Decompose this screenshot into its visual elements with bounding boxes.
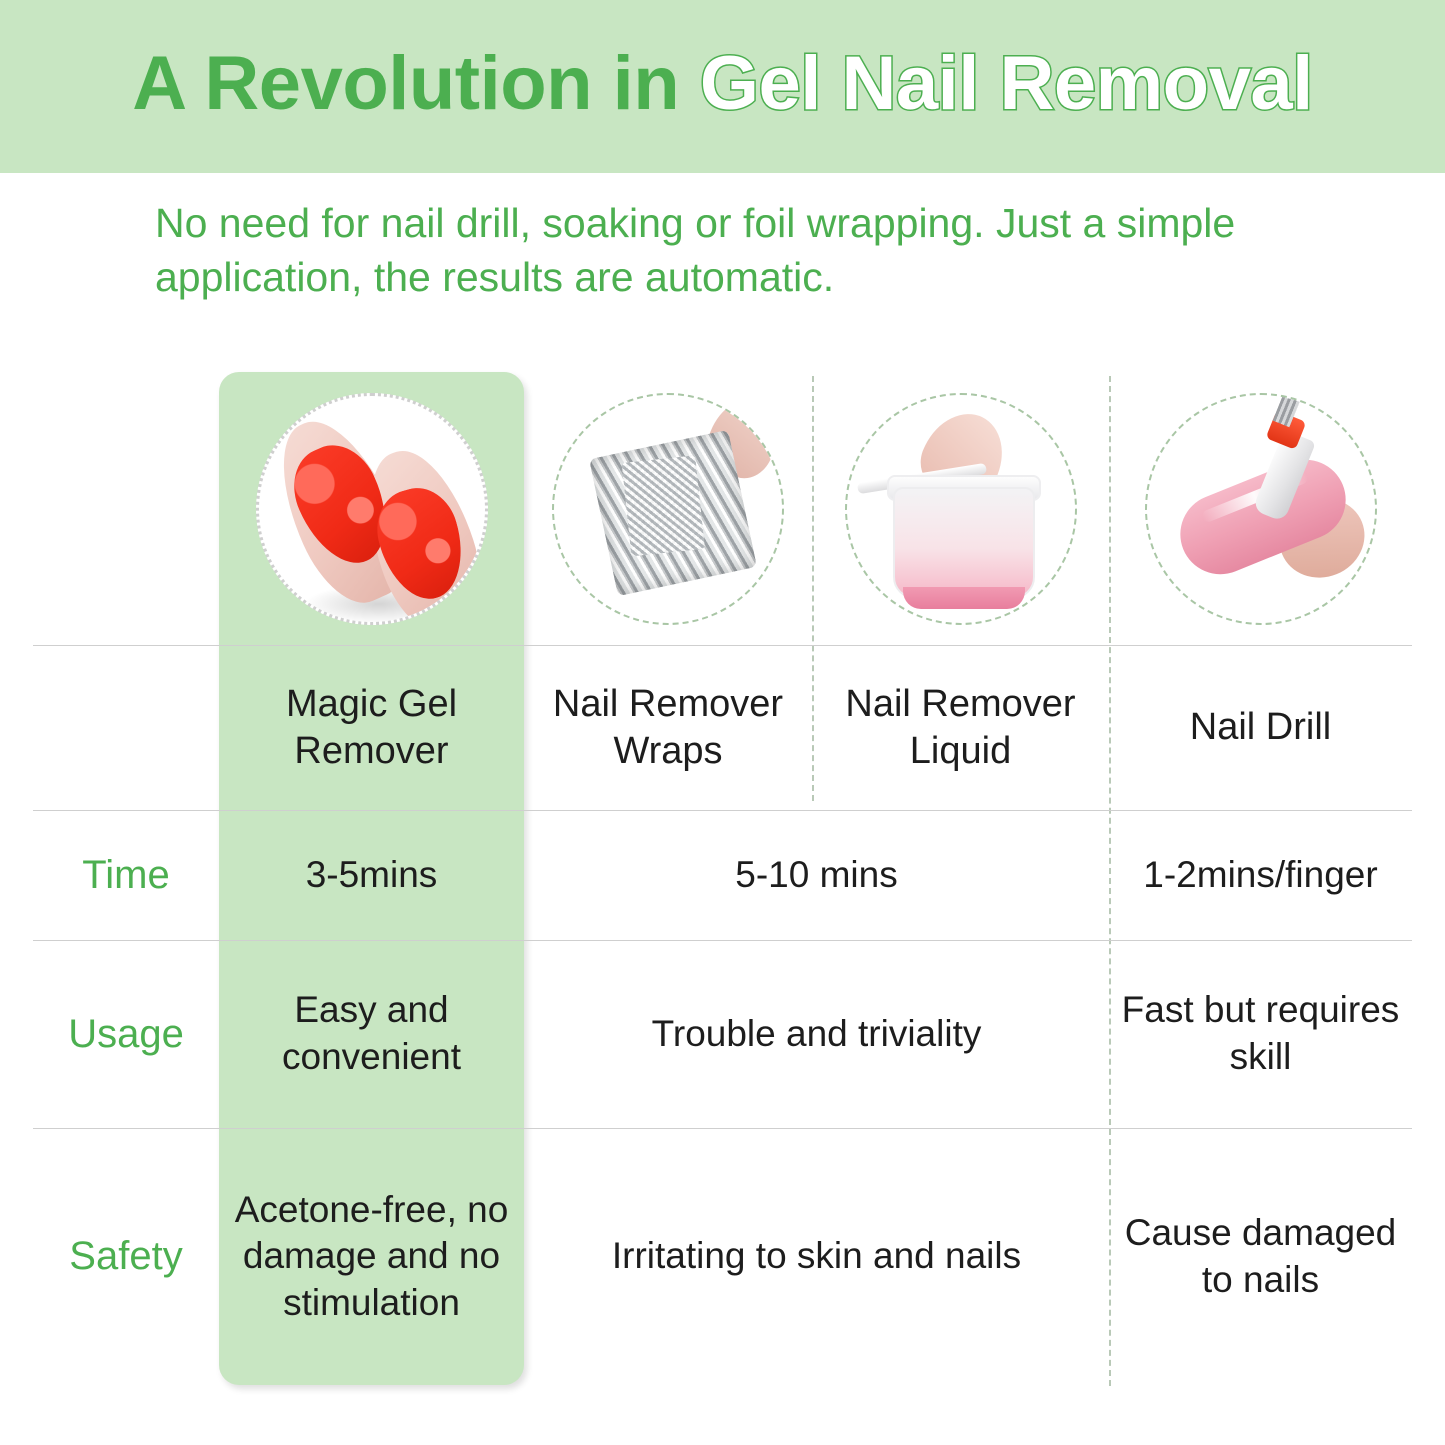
product-image-cell-nail-remover-wraps [524, 372, 812, 645]
jar-pink-base [903, 587, 1025, 609]
product-name-3: Nail Remover Liquid [812, 645, 1109, 810]
page-title: A Revolution in Gel Nail Removal [132, 46, 1313, 128]
product-image-cell-nail-remover-liquid [812, 372, 1109, 645]
header-banner: A Revolution in Gel Nail Removal [0, 0, 1445, 173]
photo-circle-2 [552, 393, 784, 625]
cell-time-wraps-and-liquid: 5-10 mins [524, 810, 1109, 940]
jar-body [893, 487, 1035, 599]
cell-safety-wraps-and-liquid: Irritating to skin and nails [524, 1128, 1109, 1385]
cell-usage-nail-drill: Fast but requires skill [1109, 940, 1412, 1128]
photo-circle-1 [256, 393, 488, 625]
subtitle: No need for nail drill, soaking or foil … [155, 196, 1335, 304]
table-row-time: Time 3-5mins 5-10 mins 1-2mins/finger [33, 810, 1412, 940]
cell-time-magic-gel-remover: 3-5mins [219, 810, 524, 940]
nail-drill-bit-photo [1133, 384, 1388, 634]
gel-peel-off-nails-photo [244, 384, 499, 634]
cell-safety-magic-gel-remover: Acetone-free, no damage and no stimulati… [219, 1128, 524, 1385]
table-row-safety: Safety Acetone-free, no damage and no st… [33, 1128, 1412, 1385]
cell-usage-wraps-and-liquid: Trouble and triviality [524, 940, 1109, 1128]
foil-cotton-pad [622, 455, 705, 556]
product-images-row [33, 372, 1412, 645]
images-row-label-spacer [33, 372, 219, 645]
row-label-safety: Safety [33, 1128, 219, 1385]
product-image-cell-nail-drill [1109, 372, 1412, 645]
cell-time-nail-drill: 1-2mins/finger [1109, 810, 1412, 940]
product-name-4: Nail Drill [1109, 645, 1412, 810]
foil-wrap-photo [541, 384, 796, 634]
product-name-1: Magic Gel Remover [219, 645, 524, 810]
photo-circle-4 [1145, 393, 1377, 625]
cell-usage-magic-gel-remover: Easy and convenient [219, 940, 524, 1128]
foil-sheet [589, 429, 757, 595]
photo-circle-3 [845, 393, 1077, 625]
product-names-row: Magic Gel Remover Nail Remover Wraps Nai… [33, 645, 1412, 810]
product-image-cell-magic-gel-remover [219, 372, 524, 645]
remover-jar-photo [833, 384, 1088, 634]
table-row-usage: Usage Easy and convenient Trouble and tr… [33, 940, 1412, 1128]
page-title-outlined-part: Gel Nail Removal [700, 41, 1313, 126]
row-label-time: Time [33, 810, 219, 940]
page-title-green-part: A Revolution in [132, 41, 700, 126]
names-row-label-spacer [33, 645, 219, 810]
comparison-table: Magic Gel Remover Nail Remover Wraps Nai… [33, 372, 1412, 1385]
cell-safety-nail-drill: Cause damaged to nails [1109, 1128, 1412, 1385]
product-name-2: Nail Remover Wraps [524, 645, 812, 810]
row-label-usage: Usage [33, 940, 219, 1128]
